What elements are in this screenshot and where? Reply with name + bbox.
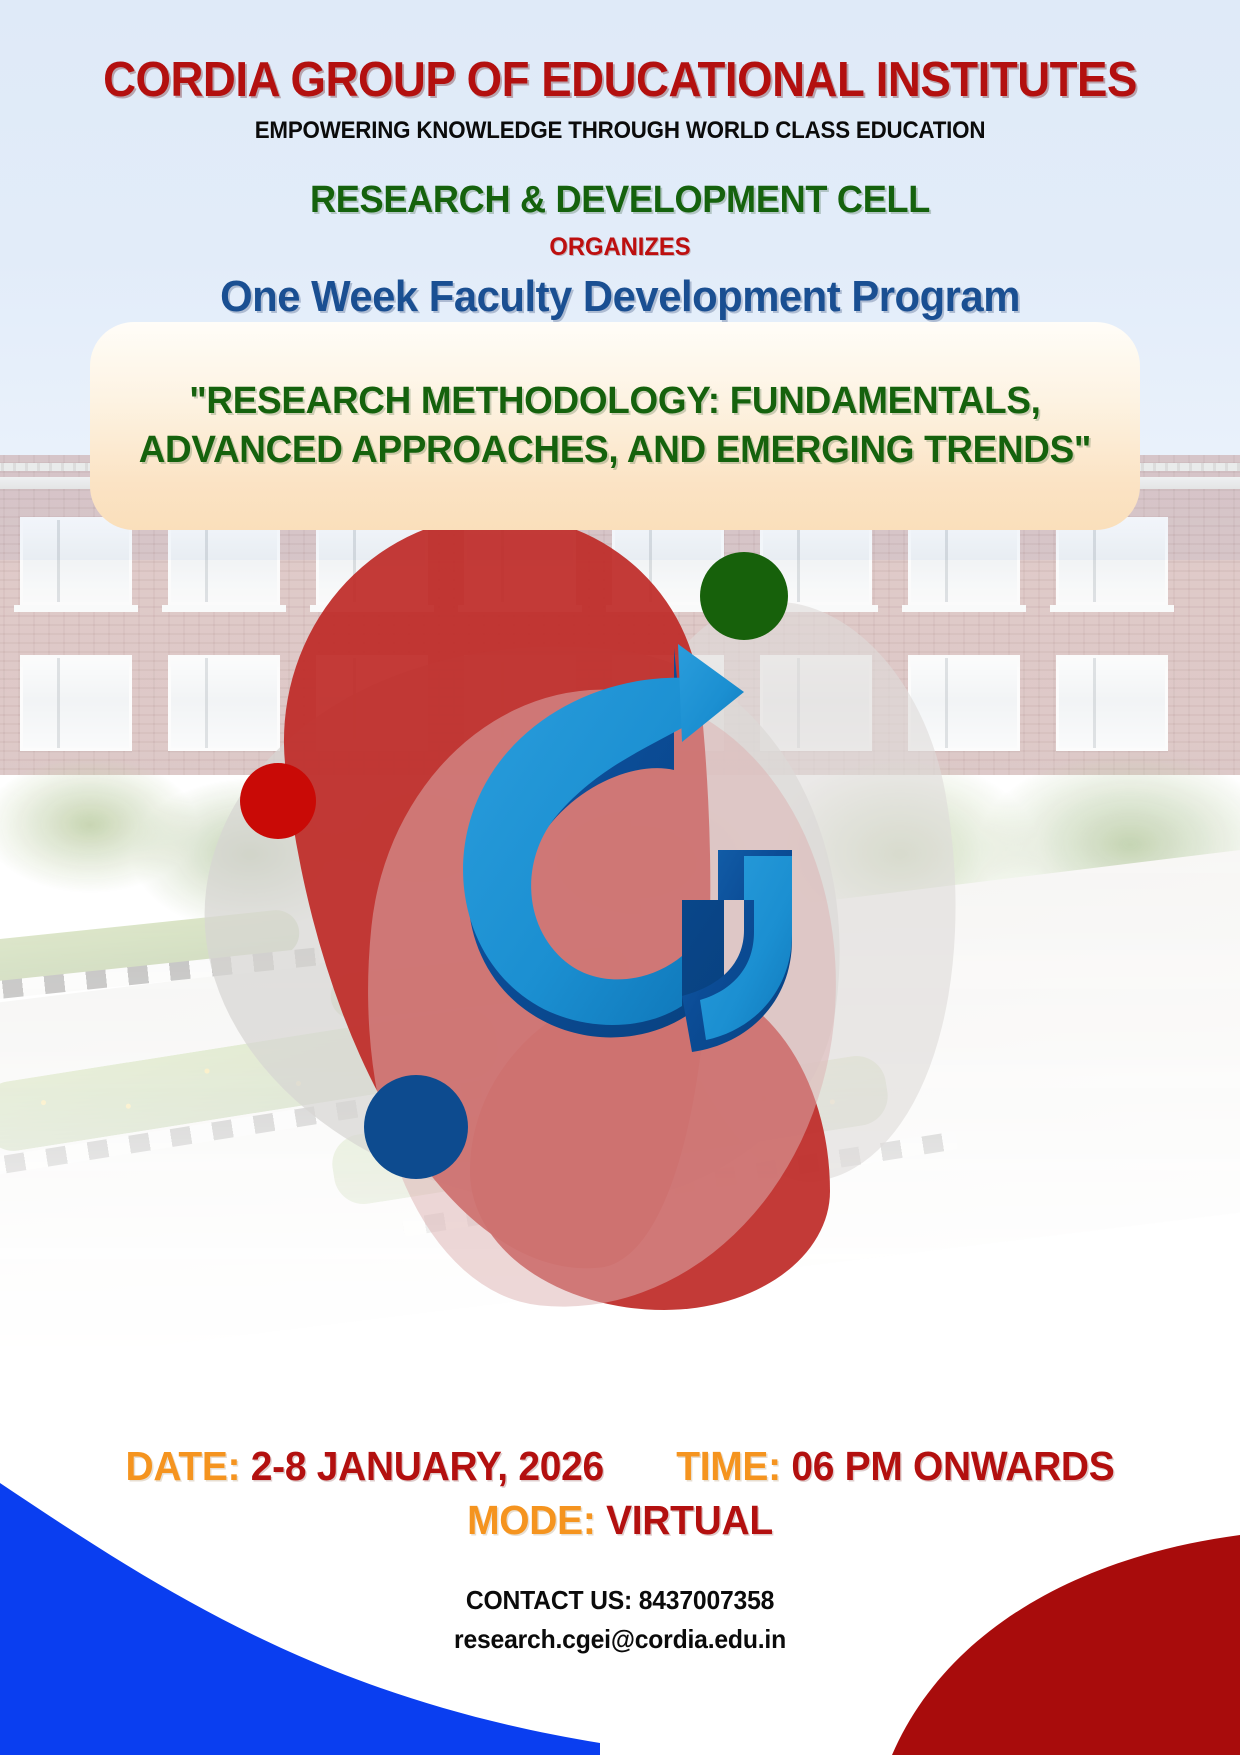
decorative-red-circle: [240, 763, 316, 839]
event-details: DATE: 2-8 JANUARY, 2026 TIME: 06 PM ONWA…: [0, 1443, 1240, 1544]
topic-line-2: ADVANCED APPROACHES, AND EMERGING TRENDS…: [139, 429, 1091, 471]
date-value: 2-8 JANUARY, 2026: [251, 1443, 604, 1489]
window-ledge: [162, 605, 286, 612]
mode-row: MODE: VIRTUAL: [31, 1497, 1209, 1544]
decorative-blue-circle: [364, 1075, 468, 1179]
poster-canvas: CORDIA GROUP OF EDUCATIONAL INSTITUTES E…: [0, 0, 1240, 1755]
contact-block: CONTACT US: 8437007358 research.cgei@cor…: [0, 1585, 1240, 1655]
building-window: [168, 517, 280, 605]
building-window: [1056, 517, 1168, 605]
window-ledge: [14, 605, 138, 612]
organization-title: CORDIA GROUP OF EDUCATIONAL INSTITUTES: [43, 52, 1196, 108]
topic-banner: "RESEARCH METHODOLOGY: FUNDAMENTALS, ADV…: [90, 322, 1140, 530]
cordia-logo-icon: [352, 600, 802, 1060]
time-label: TIME:: [676, 1443, 781, 1489]
program-title: One Week Faculty Development Program: [31, 272, 1209, 322]
time-value: 06 PM ONWARDS: [791, 1443, 1114, 1489]
contact-email[interactable]: research.cgei@cordia.edu.in: [31, 1624, 1209, 1655]
building-window: [908, 517, 1020, 605]
contact-phone: CONTACT US: 8437007358: [31, 1585, 1209, 1616]
mode-value: VIRTUAL: [606, 1497, 773, 1543]
topic-text: "RESEARCH METHODOLOGY: FUNDAMENTALS, ADV…: [139, 377, 1091, 474]
window-ledge: [902, 605, 1026, 612]
date-label: DATE:: [126, 1443, 241, 1489]
organization-tagline: EMPOWERING KNOWLEDGE THROUGH WORLD CLASS…: [43, 117, 1196, 145]
building-window: [20, 517, 132, 605]
rnd-cell-label: RESEARCH & DEVELOPMENT CELL: [31, 179, 1209, 222]
poster-header: CORDIA GROUP OF EDUCATIONAL INSTITUTES E…: [0, 0, 1240, 359]
window-ledge: [1050, 605, 1174, 612]
topic-line-1: "RESEARCH METHODOLOGY: FUNDAMENTALS,: [189, 380, 1040, 422]
date-time-row: DATE: 2-8 JANUARY, 2026 TIME: 06 PM ONWA…: [31, 1443, 1209, 1490]
mode-label: MODE:: [467, 1497, 595, 1543]
organizes-label: ORGANIZES: [31, 233, 1209, 262]
